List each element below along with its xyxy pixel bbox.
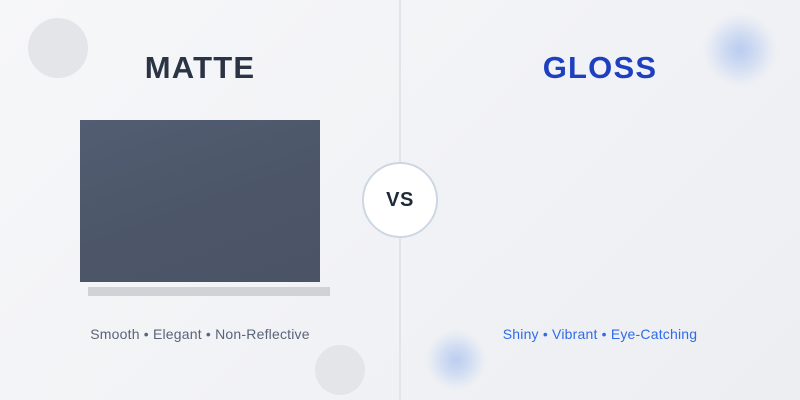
panel-caption-matte: Smooth • Elegant • Non-Reflective <box>0 324 400 344</box>
swatch-shadow-matte <box>88 287 330 296</box>
panel-gloss: GLOSS Shiny • Vibrant • Eye-Catching <box>400 0 800 400</box>
panel-matte: MATTE Smooth • Elegant • Non-Reflective <box>0 0 400 400</box>
comparison-graphic: MATTE Smooth • Elegant • Non-Reflective … <box>0 0 800 400</box>
versus-badge: VS <box>362 162 438 238</box>
panel-title-matte: MATTE <box>0 48 400 88</box>
panel-caption-gloss: Shiny • Vibrant • Eye-Catching <box>400 324 800 344</box>
swatch-matte <box>80 120 320 282</box>
panel-title-gloss: GLOSS <box>400 48 800 88</box>
versus-badge-label: VS <box>386 189 414 212</box>
